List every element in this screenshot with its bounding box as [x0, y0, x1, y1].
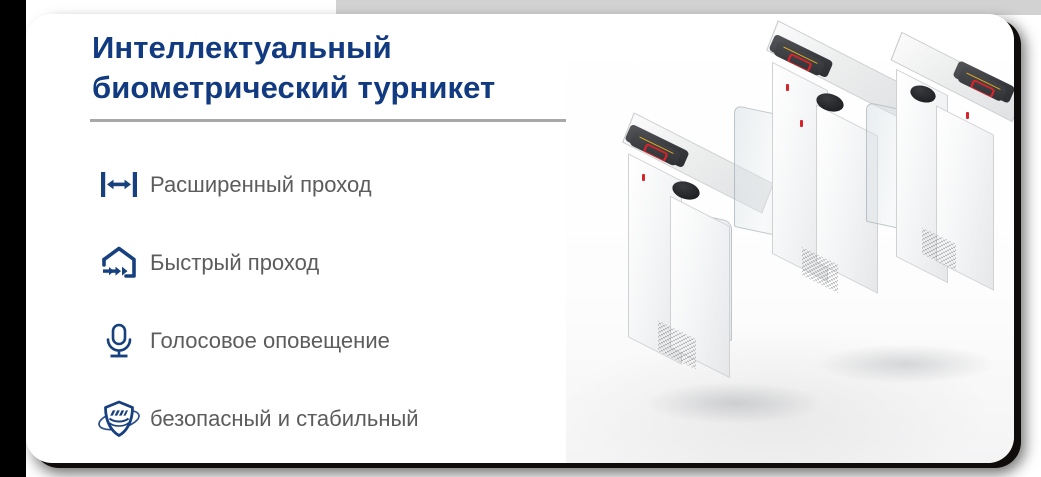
product-image — [566, 14, 1014, 463]
status-led — [800, 120, 803, 127]
width-arrows-icon — [88, 168, 150, 202]
banner-root: Интеллектуальный биометрический турникет… — [0, 0, 1041, 477]
floor-shadow — [816, 344, 996, 384]
top-gray-band — [336, 0, 1041, 15]
status-led — [786, 84, 789, 91]
feature-item: безопасный и стабильный — [88, 380, 648, 458]
feature-list: Расширенный проход Быстрый проход — [88, 146, 648, 458]
microphone-icon — [88, 321, 150, 361]
status-led — [966, 112, 969, 119]
product-banner-card: Интеллектуальный биометрический турникет… — [26, 14, 1014, 463]
floor-shadow — [644, 382, 824, 424]
feature-label: Голосовое оповещение — [150, 328, 390, 354]
feature-item: Расширенный проход — [88, 146, 648, 224]
fast-pass-gate-icon — [88, 243, 150, 283]
feature-item: Голосовое оповещение — [88, 302, 648, 380]
left-black-edge — [0, 0, 26, 477]
feature-item: Быстрый проход — [88, 224, 648, 302]
feature-label: безопасный и стабильный — [150, 406, 419, 432]
feature-label: Расширенный проход — [150, 172, 372, 198]
shield-orbit-icon — [88, 398, 150, 440]
status-led — [642, 174, 645, 181]
title-divider — [90, 119, 636, 122]
feature-label: Быстрый проход — [150, 250, 319, 276]
